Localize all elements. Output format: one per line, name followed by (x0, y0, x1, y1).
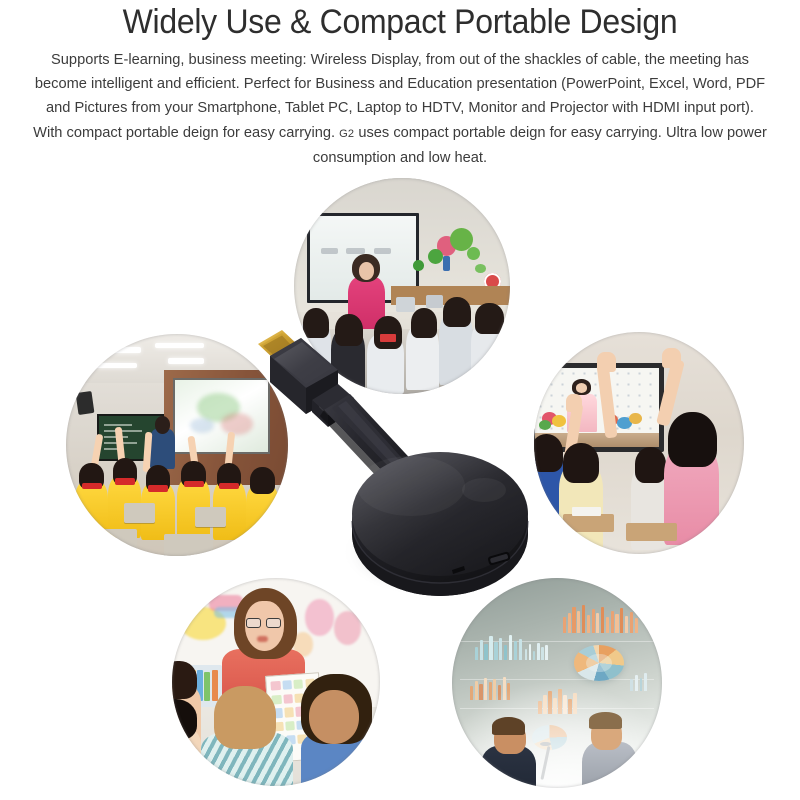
model-name: G2 (339, 128, 354, 140)
product-image-wireless-display-dongle (246, 318, 562, 614)
photo-classroom-flatscreen-display (534, 332, 744, 554)
receiver-puck (352, 452, 528, 596)
page-title: Widely Use & Compact Portable Design (24, 2, 776, 42)
product-marketing-banner: Widely Use & Compact Portable Design Sup… (0, 0, 800, 800)
description-part-2: uses compact portable deign for easy car… (313, 124, 767, 166)
product-description: Supports E-learning, business meeting: W… (29, 48, 770, 170)
scene-classroom-flatscreen (534, 332, 744, 554)
